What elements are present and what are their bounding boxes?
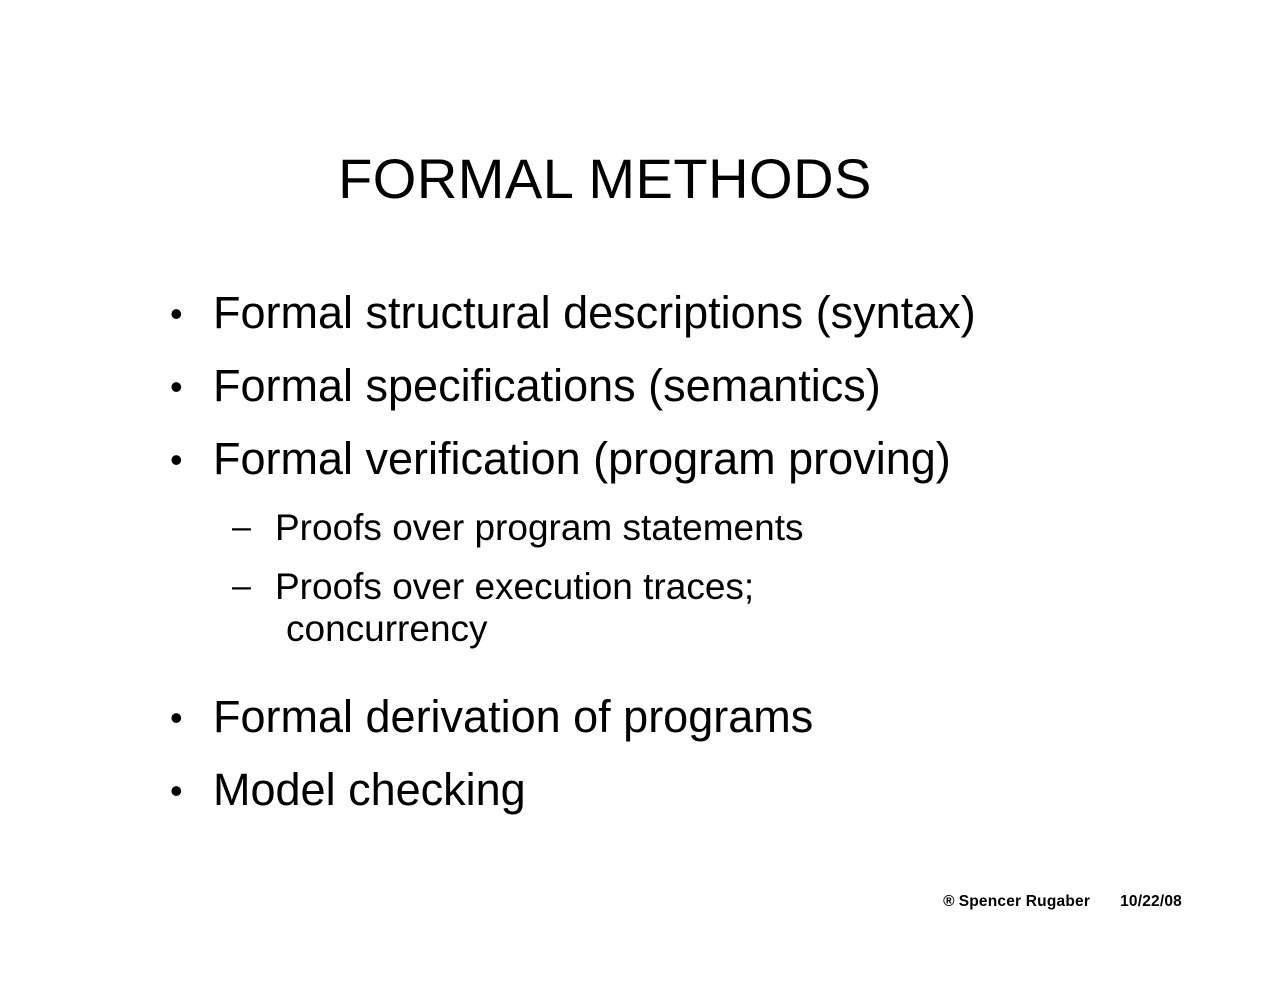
sub-list-item-line-2: concurrency [275,608,1170,650]
bullet-dot-icon: • [170,434,213,485]
slide-body-content: • Formal structural descriptions (syntax… [170,288,1170,838]
sub-list-item-line-1: Proofs over execution traces; [275,566,754,607]
footer-author: Spencer Rugaber [959,893,1090,911]
list-spacer [170,666,1170,692]
list-item: • Formal structural descriptions (syntax… [170,288,1170,339]
list-item-label: Formal structural descriptions (syntax) [213,288,1170,338]
list-item-label: Formal verification (program proving) [213,434,1170,484]
list-item-label: Formal specifications (semantics) [213,361,1170,411]
sub-list-item-label: Proofs over execution traces;concurrency [275,566,1170,650]
bullet-dot-icon: • [170,288,213,339]
sub-list-item-label: Proofs over program statements [275,507,1170,549]
bullet-dash-icon: – [232,507,275,548]
sub-list-item: – Proofs over program statements [232,507,1170,549]
list-item-label: Formal derivation of programs [213,692,1170,742]
page-title: FORMAL METHODS [338,150,872,209]
footer-date: 10/22/08 [1120,893,1182,911]
bullet-dot-icon: • [170,765,213,816]
bullet-dash-icon: – [232,566,275,607]
list-item: • Model checking [170,765,1170,816]
bullet-dot-icon: • [170,361,213,412]
slide-canvas: FORMAL METHODS • Formal structural descr… [0,0,1280,989]
list-item: • Formal specifications (semantics) [170,361,1170,412]
list-item-label: Model checking [213,765,1170,815]
sub-list-item: – Proofs over execution traces;concurren… [232,566,1170,650]
copyright-icon: ® [943,893,955,911]
list-item: • Formal derivation of programs [170,692,1170,743]
slide-footer: ® Spencer Rugaber 10/22/08 [943,893,1182,911]
slide-title-block: FORMAL METHODS [0,150,1210,209]
bullet-dot-icon: • [170,692,213,743]
list-item: • Formal verification (program proving) [170,434,1170,485]
